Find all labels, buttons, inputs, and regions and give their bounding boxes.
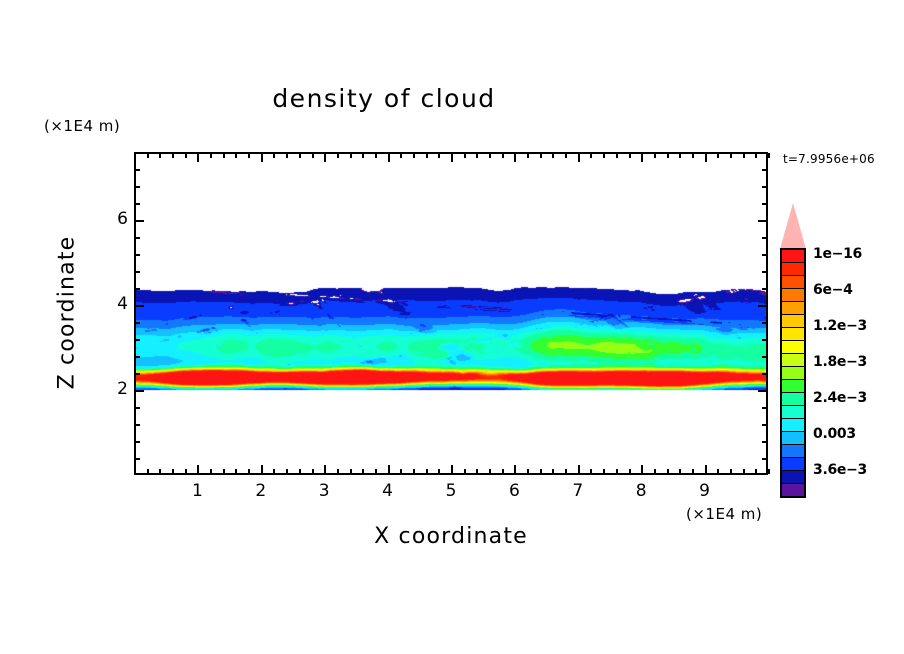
x-minor-tick [629, 469, 631, 474]
y-minor-tick [762, 373, 767, 375]
x-minor-tick [730, 469, 732, 474]
x-minor-tick [438, 153, 440, 158]
contour-plot-area [134, 152, 768, 475]
x-minor-tick [527, 469, 529, 474]
colorbar-band [782, 327, 804, 340]
x-major-tick [578, 465, 580, 474]
y-minor-tick [135, 237, 140, 239]
x-major-tick [705, 465, 707, 474]
x-minor-tick [679, 153, 681, 158]
colorbar-band [782, 262, 804, 275]
y-minor-tick [135, 441, 140, 443]
x-minor-tick [337, 153, 339, 158]
x-minor-tick [502, 469, 504, 474]
y-minor-tick [135, 288, 140, 290]
y-major-tick [758, 390, 767, 392]
y-major-tick [135, 220, 144, 222]
x-minor-tick [629, 153, 631, 158]
colorbar-band [782, 379, 804, 392]
y-minor-tick [135, 186, 140, 188]
x-minor-tick [362, 153, 364, 158]
x-tick-label: 8 [626, 481, 656, 501]
x-major-tick [641, 465, 643, 474]
x-major-tick [578, 153, 580, 162]
x-major-tick [197, 153, 199, 162]
x-minor-tick [147, 469, 149, 474]
y-minor-tick [135, 407, 140, 409]
x-minor-tick [210, 153, 212, 158]
y-minor-tick [135, 339, 140, 341]
x-major-tick [705, 153, 707, 162]
x-major-tick [324, 465, 326, 474]
colorbar-label: 1e−16 [813, 246, 862, 262]
y-minor-tick [762, 424, 767, 426]
x-major-tick [324, 153, 326, 162]
x-minor-tick [273, 469, 275, 474]
x-minor-tick [476, 153, 478, 158]
colorbar-label: 6e−4 [813, 282, 853, 298]
x-minor-tick [350, 153, 352, 158]
x-minor-tick [527, 153, 529, 158]
page-title: density of cloud [0, 84, 768, 113]
x-major-tick [514, 153, 516, 162]
x-minor-tick [603, 153, 605, 158]
x-minor-tick [362, 469, 364, 474]
colorbar-band [782, 483, 804, 496]
x-minor-tick [464, 153, 466, 158]
x-minor-tick [375, 469, 377, 474]
x-axis-title: X coordinate [134, 524, 768, 549]
x-minor-tick [755, 469, 757, 474]
y-minor-tick [762, 441, 767, 443]
x-minor-tick [489, 469, 491, 474]
y-minor-tick [762, 203, 767, 205]
colorbar-band [782, 444, 804, 457]
x-major-tick [261, 153, 263, 162]
colorbar-band [782, 288, 804, 301]
x-minor-tick [312, 153, 314, 158]
x-major-tick [641, 153, 643, 162]
x-minor-tick [667, 469, 669, 474]
x-minor-tick [540, 153, 542, 158]
y-major-tick [758, 305, 767, 307]
x-minor-tick [400, 469, 402, 474]
y-minor-tick [762, 322, 767, 324]
x-minor-tick [565, 153, 567, 158]
y-minor-tick [762, 407, 767, 409]
x-minor-tick [743, 469, 745, 474]
colorbar-band [782, 366, 804, 379]
x-minor-tick [590, 153, 592, 158]
x-minor-tick [248, 153, 250, 158]
x-major-tick [451, 153, 453, 162]
x-minor-tick [552, 153, 554, 158]
x-minor-tick [172, 469, 174, 474]
colorbar-band [782, 275, 804, 288]
x-minor-tick [375, 153, 377, 158]
x-minor-tick [540, 469, 542, 474]
y-minor-tick [762, 356, 767, 358]
x-minor-tick [667, 153, 669, 158]
x-minor-tick [502, 153, 504, 158]
colorbar-label: 0.003 [813, 426, 856, 442]
x-minor-tick [312, 469, 314, 474]
x-minor-tick [552, 469, 554, 474]
y-major-tick [758, 220, 767, 222]
x-tick-label: 2 [246, 481, 276, 501]
x-minor-tick [159, 153, 161, 158]
x-minor-tick [755, 153, 757, 158]
y-minor-tick [762, 288, 767, 290]
x-major-tick [514, 465, 516, 474]
x-minor-tick [565, 469, 567, 474]
y-minor-tick [135, 203, 140, 205]
x-minor-tick [590, 469, 592, 474]
y-minor-tick [135, 169, 140, 171]
colorbar-label: 1.2e−3 [813, 318, 867, 334]
x-tick-label: 4 [373, 481, 403, 501]
x-minor-tick [692, 153, 694, 158]
x-minor-tick [400, 153, 402, 158]
y-minor-tick [135, 254, 140, 256]
y-minor-tick [135, 322, 140, 324]
colorbar-label: 1.8e−3 [813, 354, 867, 370]
x-tick-label: 5 [436, 481, 466, 501]
y-minor-tick [135, 373, 140, 375]
x-minor-tick [147, 153, 149, 158]
colorbar-band [782, 457, 804, 470]
x-minor-tick [185, 153, 187, 158]
figure-canvas: density of cloud (×1E4 m) t=7.9956e+06 1… [0, 0, 904, 654]
y-axis-title: Z coordinate [55, 213, 80, 413]
time-stamp-label: t=7.9956e+06 [783, 152, 875, 166]
x-minor-tick [185, 469, 187, 474]
colorbar-band [782, 250, 804, 262]
colorbar-bands [780, 248, 806, 498]
x-major-tick [261, 465, 263, 474]
x-minor-tick [172, 153, 174, 158]
x-minor-tick [299, 153, 301, 158]
contour-field [136, 154, 766, 473]
x-minor-tick [768, 153, 770, 158]
x-minor-tick [350, 469, 352, 474]
colorbar-label: 2.4e−3 [813, 390, 867, 406]
y-minor-tick [762, 169, 767, 171]
x-minor-tick [286, 153, 288, 158]
x-tick-label: 1 [182, 481, 212, 501]
x-minor-tick [235, 469, 237, 474]
colorbar-band [782, 353, 804, 366]
x-minor-tick [603, 469, 605, 474]
colorbar-label: 3.6e−3 [813, 462, 867, 478]
x-minor-tick [616, 469, 618, 474]
x-tick-label: 9 [690, 481, 720, 501]
x-minor-tick [476, 469, 478, 474]
x-tick-label: 3 [309, 481, 339, 501]
z-units-label: (×1E4 m) [44, 117, 120, 135]
colorbar-band [782, 431, 804, 444]
x-minor-tick [159, 469, 161, 474]
y-minor-tick [135, 458, 140, 460]
x-minor-tick [248, 469, 250, 474]
x-minor-tick [299, 469, 301, 474]
x-minor-tick [717, 153, 719, 158]
x-major-tick [388, 465, 390, 474]
x-minor-tick [210, 469, 212, 474]
x-minor-tick [273, 153, 275, 158]
y-minor-tick [762, 237, 767, 239]
x-minor-tick [426, 153, 428, 158]
colorbar-arrow-cap [780, 203, 806, 249]
x-minor-tick [654, 153, 656, 158]
colorbar-band [782, 301, 804, 314]
y-tick-label: 6 [98, 209, 128, 229]
y-tick-label: 2 [98, 379, 128, 399]
x-units-label: (×1E4 m) [686, 505, 762, 523]
y-minor-tick [762, 186, 767, 188]
x-minor-tick [337, 469, 339, 474]
x-minor-tick [438, 469, 440, 474]
x-minor-tick [223, 153, 225, 158]
colorbar-band [782, 418, 804, 431]
x-major-tick [197, 465, 199, 474]
colorbar-band [782, 314, 804, 327]
y-tick-label: 4 [98, 294, 128, 314]
colorbar-band [782, 405, 804, 418]
x-minor-tick [768, 469, 770, 474]
x-tick-label: 6 [499, 481, 529, 501]
x-major-tick [388, 153, 390, 162]
x-minor-tick [730, 153, 732, 158]
x-minor-tick [679, 469, 681, 474]
x-minor-tick [616, 153, 618, 158]
x-minor-tick [489, 153, 491, 158]
x-minor-tick [286, 469, 288, 474]
x-minor-tick [426, 469, 428, 474]
colorbar-band [782, 392, 804, 405]
y-minor-tick [762, 254, 767, 256]
y-minor-tick [762, 339, 767, 341]
x-minor-tick [235, 153, 237, 158]
x-minor-tick [654, 469, 656, 474]
y-minor-tick [135, 356, 140, 358]
y-minor-tick [762, 271, 767, 273]
y-minor-tick [135, 424, 140, 426]
y-minor-tick [762, 458, 767, 460]
x-tick-label: 7 [563, 481, 593, 501]
x-minor-tick [717, 469, 719, 474]
x-minor-tick [692, 469, 694, 474]
x-minor-tick [743, 153, 745, 158]
x-minor-tick [413, 153, 415, 158]
colorbar-band [782, 470, 804, 483]
y-major-tick [135, 390, 144, 392]
y-major-tick [135, 305, 144, 307]
x-minor-tick [413, 469, 415, 474]
x-minor-tick [464, 469, 466, 474]
y-minor-tick [135, 271, 140, 273]
x-major-tick [451, 465, 453, 474]
x-minor-tick [223, 469, 225, 474]
colorbar-band [782, 340, 804, 353]
